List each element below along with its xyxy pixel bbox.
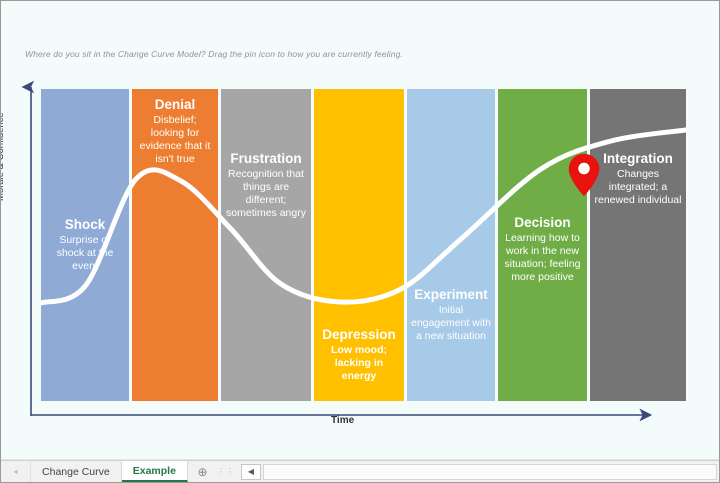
stage-label-shock: Shock Surprise or shock at the event <box>41 217 129 273</box>
stage-band-experiment[interactable]: Experiment Initial engagement with a new… <box>407 89 495 401</box>
sheet-tab-bar: ◂ Change Curve Example ⊕ ⋮⋮ ◀ <box>1 460 720 482</box>
stage-label-decision: Decision Learning how to work in the new… <box>498 215 587 284</box>
add-sheet-icon[interactable]: ⊕ <box>188 461 217 482</box>
stage-band-shock[interactable]: Shock Surprise or shock at the event <box>41 89 129 401</box>
chart-plot-area: Shock Surprise or shock at the event Den… <box>41 89 686 401</box>
stage-label-integration: Integration Changes integrated; a renewe… <box>590 151 686 207</box>
stage-band-frustration[interactable]: Frustration Recognition that things are … <box>221 89 311 401</box>
stage-band-integration[interactable]: Integration Changes integrated; a renewe… <box>590 89 686 401</box>
scroll-left-button[interactable]: ◀ <box>241 464 261 480</box>
spreadsheet-window: Where do you sit in the Change Curve Mod… <box>0 0 720 483</box>
y-axis-label: Morale & Confidence <box>0 112 6 201</box>
stage-label-denial: Denial Disbelief; looking for evidence t… <box>132 97 218 166</box>
stage-band-decision[interactable]: Decision Learning how to work in the new… <box>498 89 587 401</box>
prompt-text: Where do you sit in the Change Curve Mod… <box>25 49 403 59</box>
sheet-tab-example[interactable]: Example <box>122 461 188 482</box>
horizontal-scrollbar-track[interactable] <box>263 464 717 480</box>
stage-label-depression: Depression Low mood; lacking in energy <box>314 327 404 383</box>
x-axis-label: Time <box>331 415 354 426</box>
sheet-tab-change-curve[interactable]: Change Curve <box>31 461 122 482</box>
stage-band-depression[interactable]: Depression Low mood; lacking in energy <box>314 89 404 401</box>
pin-marker-icon[interactable] <box>567 153 601 197</box>
stage-label-experiment: Experiment Initial engagement with a new… <box>407 287 495 343</box>
stage-band-denial[interactable]: Denial Disbelief; looking for evidence t… <box>132 89 218 401</box>
sheet-nav-prev-icon[interactable]: ◂ <box>1 461 31 482</box>
horizontal-scroll-region: ⋮⋮ ◀ <box>217 461 720 482</box>
scroll-grip-icon[interactable]: ⋮⋮ <box>217 467 235 476</box>
stage-label-frustration: Frustration Recognition that things are … <box>221 151 311 220</box>
